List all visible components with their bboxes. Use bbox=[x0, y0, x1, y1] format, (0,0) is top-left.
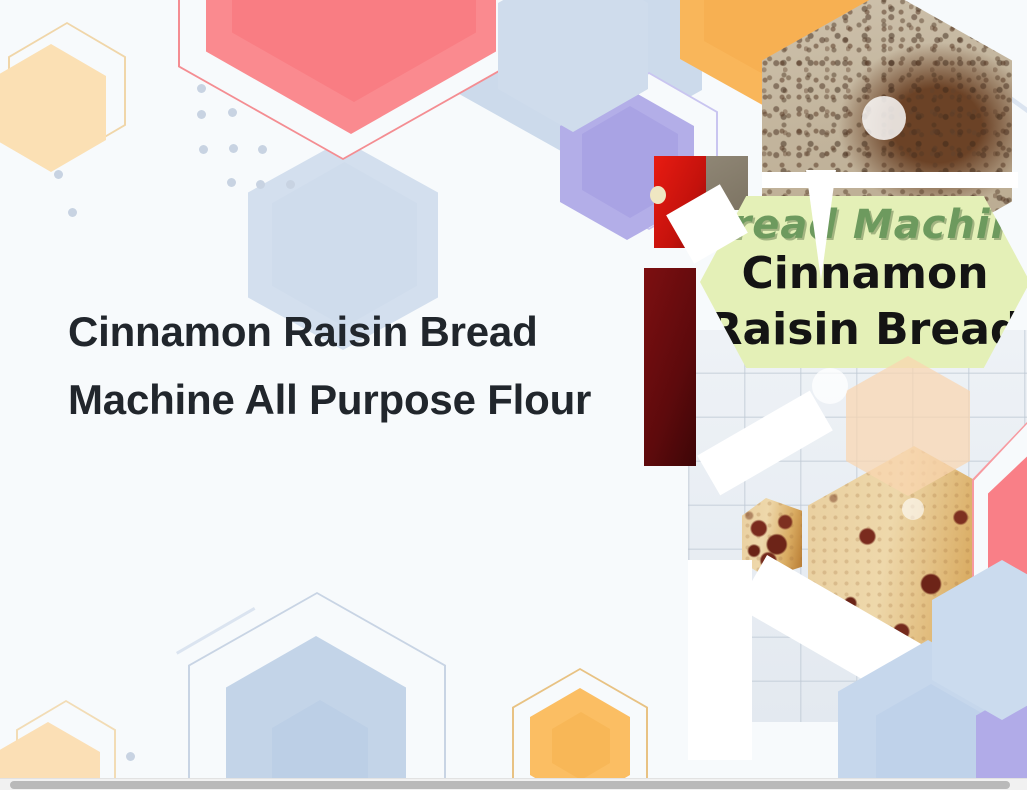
overlay-line-raisin-bread: Raisin Bread bbox=[700, 304, 1027, 355]
decor-dot bbox=[197, 84, 206, 93]
highlight-circle bbox=[902, 498, 924, 520]
page-title: Cinnamon Raisin Bread Machine All Purpos… bbox=[68, 298, 648, 434]
decor-dot bbox=[199, 145, 208, 154]
decor-dot bbox=[197, 110, 206, 119]
overlay-line-cinnamon: Cinnamon bbox=[700, 248, 1027, 299]
horizontal-scrollbar-thumb[interactable] bbox=[10, 781, 1010, 789]
decor-dot bbox=[68, 208, 77, 217]
overlay-script-line: Bread Machine bbox=[700, 202, 1027, 248]
slide-canvas: Bread Machine Cinnamon Raisin Bread Cinn… bbox=[0, 0, 1027, 790]
horizontal-scrollbar-track[interactable] bbox=[0, 778, 1027, 790]
decor-dot bbox=[286, 180, 295, 189]
decor-dot bbox=[228, 108, 237, 117]
dark-red-photo bbox=[644, 268, 696, 466]
highlight-circle bbox=[862, 96, 906, 140]
decor-dot bbox=[258, 145, 267, 154]
decor-dot bbox=[126, 752, 135, 761]
photo-divider bbox=[762, 172, 1018, 188]
recipe-title-card-photo: Bread Machine Cinnamon Raisin Bread bbox=[700, 196, 1027, 368]
highlight-circle bbox=[812, 368, 848, 404]
decor-dot bbox=[227, 178, 236, 187]
photo-divider bbox=[688, 560, 752, 760]
decor-dot bbox=[229, 144, 238, 153]
decor-dot bbox=[54, 170, 63, 179]
decor-dot bbox=[256, 180, 265, 189]
red-appliance-knob bbox=[650, 186, 666, 204]
